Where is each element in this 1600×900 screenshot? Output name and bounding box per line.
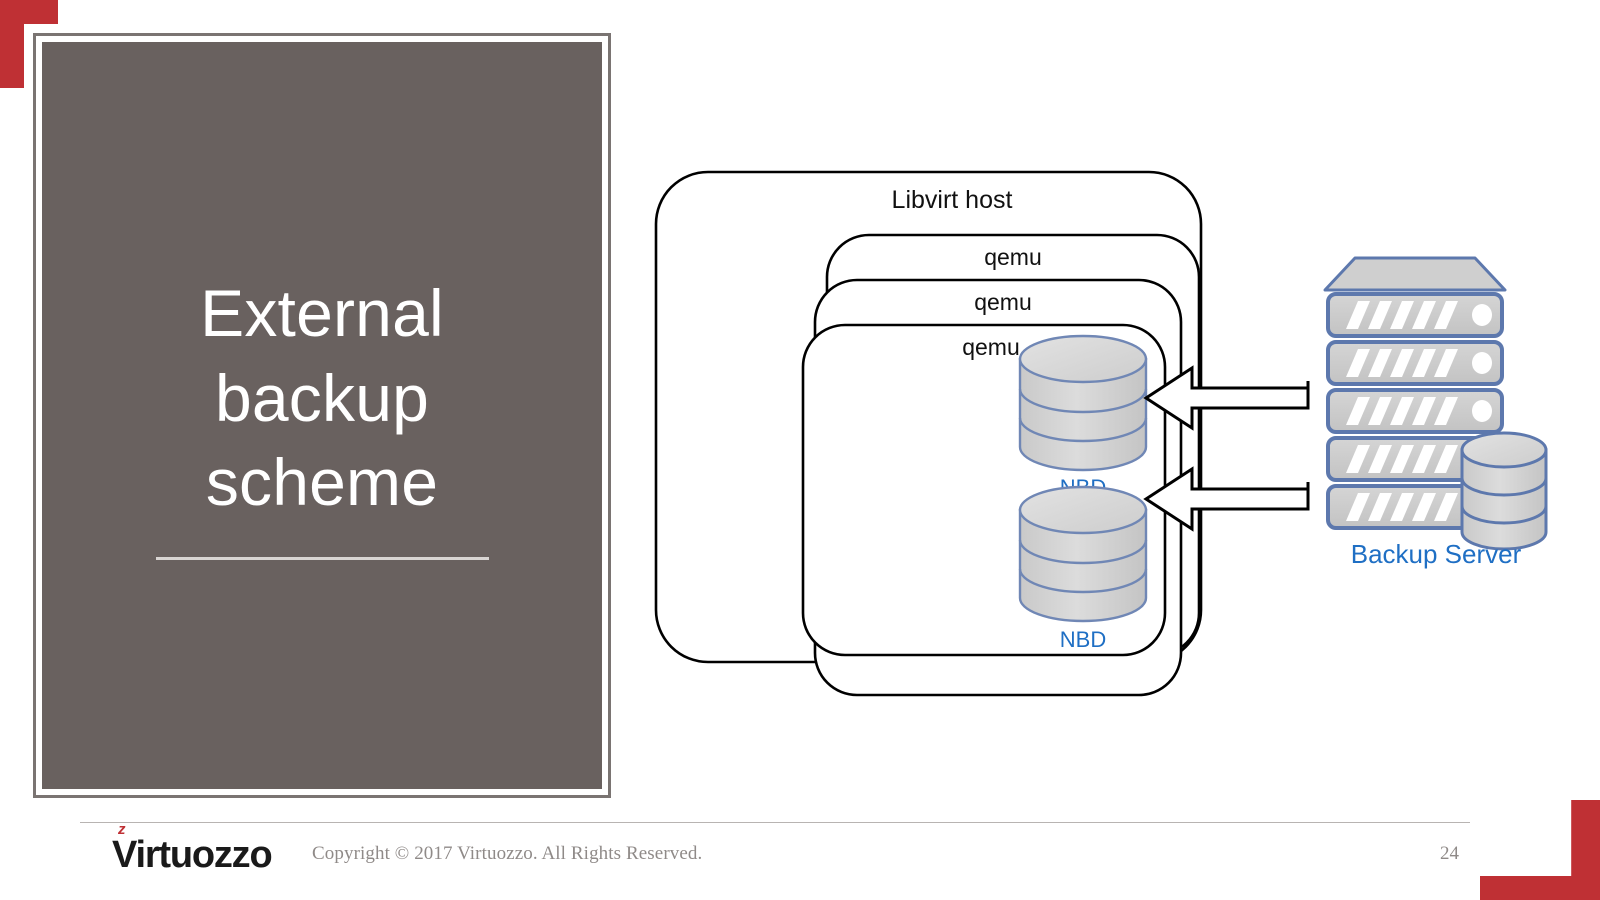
backup-server-icon: Backup Server [1325,258,1546,569]
logo-superscript-z: z [118,821,126,838]
logo-wordmark: Virtuozzo [112,836,272,874]
backup-server-label: Backup Server [1351,539,1522,569]
server-blade-2 [1328,342,1502,384]
slide-title: External backup scheme [200,271,444,530]
server-blade-3 [1328,390,1502,432]
page-number: 24 [1440,843,1459,865]
qemu-label-2: qemu [974,289,1032,315]
title-divider [156,557,489,560]
qemu-label-3: qemu [962,334,1020,360]
title-panel: External backup scheme [33,33,611,798]
nbd-label-2: NBD [1060,627,1106,652]
virtuozzo-logo: Virtuozzo z [112,834,272,874]
architecture-diagram: Libvirt host qemu qemu qemu NBD [630,150,1570,710]
libvirt-host-label: Libvirt host [892,186,1013,214]
server-blade-1 [1328,294,1502,336]
qemu-label-1: qemu [984,244,1042,270]
corner-decoration-bottom-right [1480,800,1600,900]
footer-divider [80,822,1470,823]
copyright-text: Copyright © 2017 Virtuozzo. All Rights R… [312,843,702,865]
title-panel-inner: External backup scheme [42,42,602,789]
backup-storage-cylinder [1462,433,1546,549]
